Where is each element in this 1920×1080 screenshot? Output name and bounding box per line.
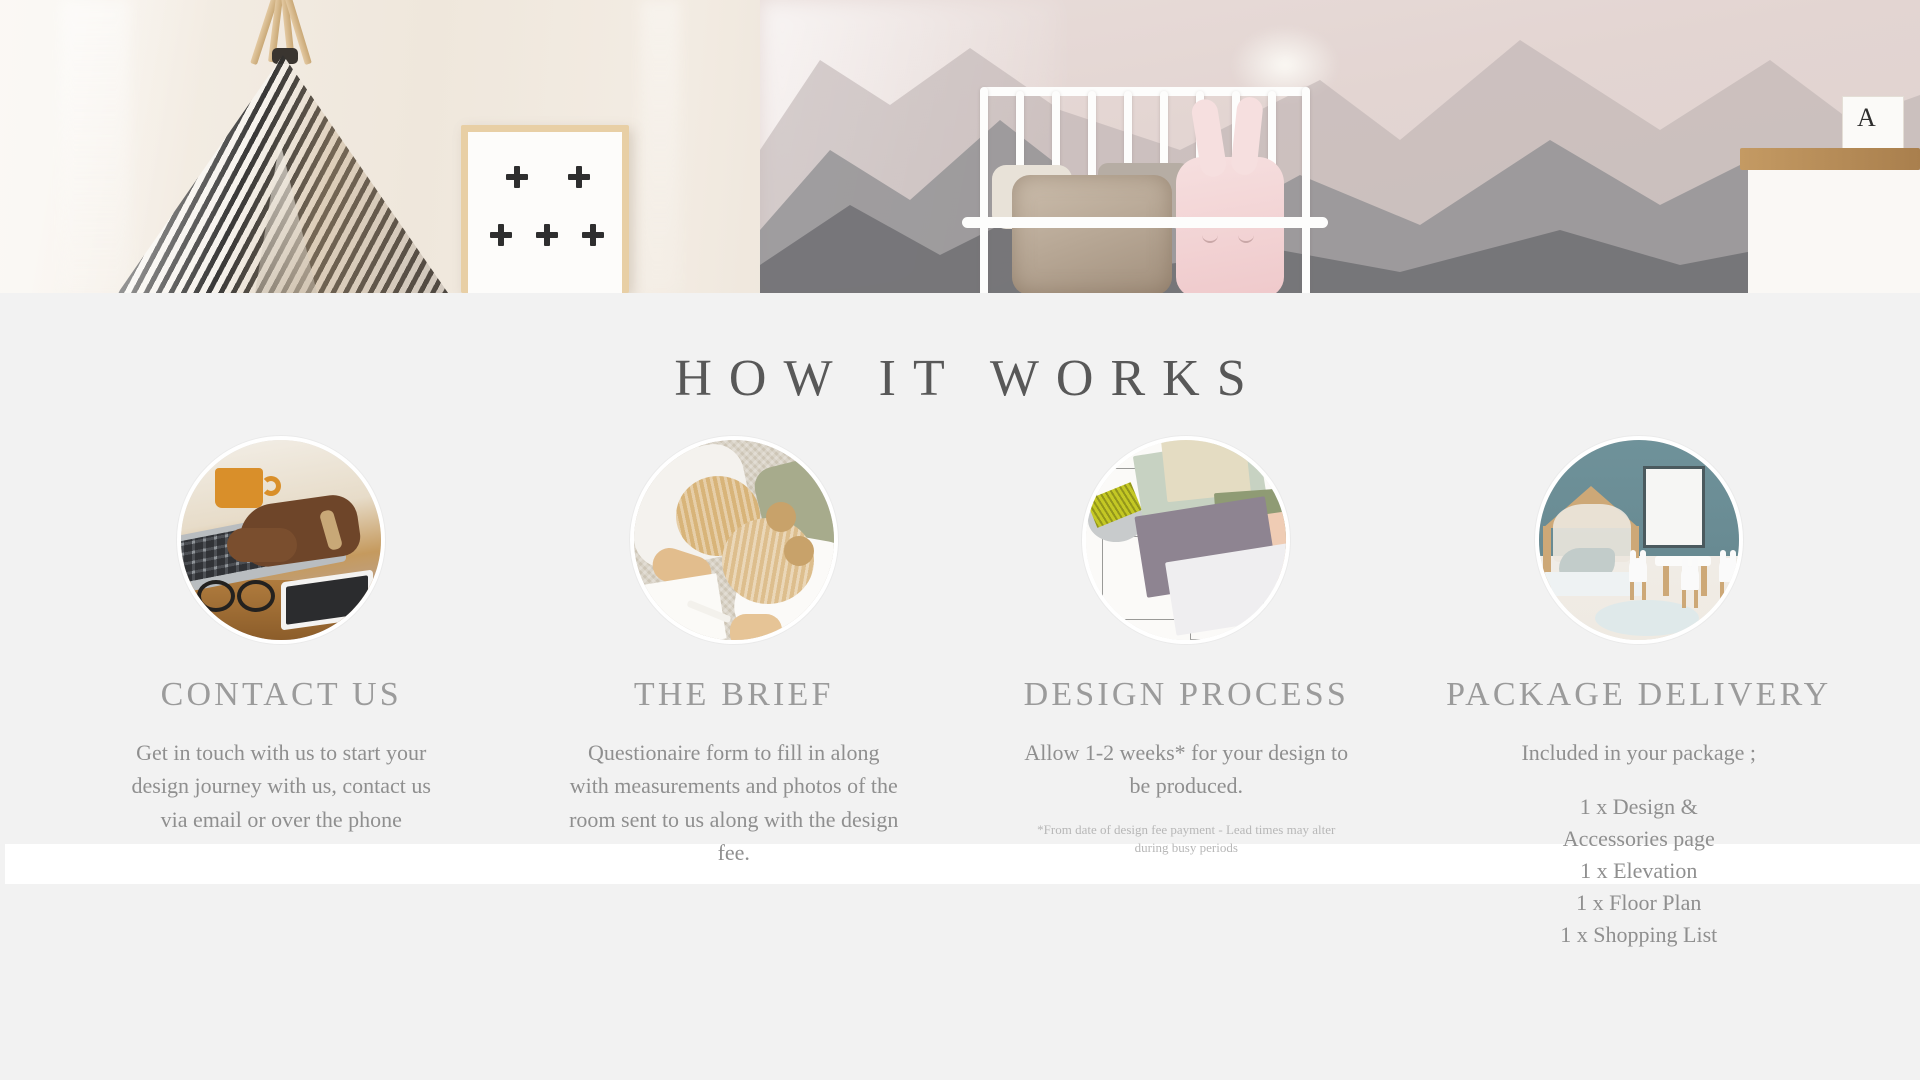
mug-handle-icon (261, 476, 281, 496)
bunny-ear-icon (1190, 97, 1228, 178)
step-title-contact-us: CONTACT US (161, 676, 402, 714)
teal-kids-bedroom-photo (1535, 436, 1743, 644)
storage-box: A (1842, 96, 1904, 150)
table-leg (1663, 566, 1669, 596)
page-title: HOW IT WORKS (0, 293, 1920, 408)
step-title-package-delivery: PACKAGE DELIVERY (1446, 676, 1831, 714)
bunny-eye-icon (1238, 235, 1254, 243)
chair-leg (1720, 582, 1724, 600)
bunny-chair-icon (1679, 566, 1701, 606)
step-column-contact-us: CONTACT US Get in touch with us to start… (55, 436, 508, 951)
kids-on-rug-scene (634, 440, 834, 640)
bed-post (1302, 87, 1310, 293)
plus-sign-icon (506, 166, 528, 188)
list-item: 1 x Shopping List (1474, 919, 1804, 951)
list-item: 1 x Design & (1474, 791, 1804, 823)
chair-leg (1694, 590, 1698, 608)
chair-leg (1682, 590, 1686, 608)
wood-white-dresser: A (1740, 148, 1920, 293)
laptop-desk-scene (181, 440, 381, 640)
coffee-mug-icon (215, 468, 263, 508)
fabric-swatches-floor-plan-photo: PORCH (1082, 436, 1290, 644)
bed-headboard-rail (980, 87, 1310, 96)
step-note-design-process: *From date of design fee payment - Lead … (1021, 821, 1351, 857)
dresser-body (1748, 170, 1920, 293)
child-leg-icon (730, 614, 782, 644)
step-column-the-brief: THE BRIEF Questionaire form to fill in a… (508, 436, 961, 951)
plus-sign-icon (490, 224, 512, 246)
bunny-face-icon (1200, 229, 1258, 259)
hands-typing-laptop-photo (177, 436, 385, 644)
table-leg (1701, 566, 1707, 596)
children-drawing-on-rug-photo (630, 436, 838, 644)
chair-leg (1630, 582, 1634, 600)
hair-bun-icon (784, 536, 814, 566)
teal-bedroom-scene (1539, 440, 1739, 640)
chair-leg (1732, 582, 1736, 600)
bunny-chair-icon (1627, 558, 1649, 598)
blonde-child-head-icon (722, 518, 814, 604)
step-title-design-process: DESIGN PROCESS (1024, 676, 1349, 714)
wall-poster-frame-icon (1643, 466, 1705, 548)
chair-back (1719, 558, 1737, 582)
sunlight-streak-icon (60, 0, 130, 293)
chair-back (1629, 558, 1647, 582)
how-it-works-section: HOW IT WORKS (0, 293, 1920, 1080)
plus-sign-icon (582, 224, 604, 246)
hero-banner: A (0, 0, 1920, 293)
fingers-icon (227, 528, 297, 562)
dresser-wood-top (1740, 148, 1920, 170)
step-body-contact-us: Get in touch with us to start your desig… (116, 736, 446, 836)
steps-row: CONTACT US Get in touch with us to start… (0, 436, 1920, 951)
bunny-eye-icon (1202, 235, 1218, 243)
poster-mat (468, 132, 622, 293)
fur-throw-blanket (1012, 175, 1172, 293)
tablet-screen (286, 575, 368, 625)
step-title-the-brief: THE BRIEF (634, 676, 834, 714)
plus-sign-icon (568, 166, 590, 188)
sunlight-streak-icon (640, 0, 680, 293)
step-column-package-delivery: PACKAGE DELIVERY Included in your packag… (1413, 436, 1866, 951)
chair-leg (1642, 582, 1646, 600)
chair-back (1681, 566, 1699, 590)
bed-post (980, 87, 988, 293)
step-column-design-process: PORCH DESIGN PROCESS Allow 1-2 weeks* fo… (960, 436, 1413, 951)
eyeglasses-icon (197, 580, 273, 606)
list-item: Accessories page (1474, 823, 1804, 855)
plus-sign-icon (536, 224, 558, 246)
step-body-the-brief: Questionaire form to fill in along with … (569, 736, 899, 870)
plus-sign-poster-frame (461, 125, 629, 293)
house-frame-bed-icon (1543, 486, 1639, 590)
bunny-chair-icon (1717, 558, 1739, 598)
storage-box-letter: A (1857, 105, 1876, 131)
package-contents-list: 1 x Design &Accessories page1 x Elevatio… (1474, 791, 1804, 950)
swatches-floorplan-scene: PORCH (1086, 440, 1286, 640)
list-item: 1 x Elevation (1474, 855, 1804, 887)
step-body-package-delivery: Included in your package ; (1474, 736, 1804, 769)
white-metal-bed (980, 55, 1310, 293)
hair-bun-icon (766, 502, 796, 532)
bed-side-rail (962, 217, 1328, 228)
step-body-design-process: Allow 1-2 weeks* for your design to be p… (1021, 736, 1351, 803)
list-item: 1 x Floor Plan (1474, 887, 1804, 919)
